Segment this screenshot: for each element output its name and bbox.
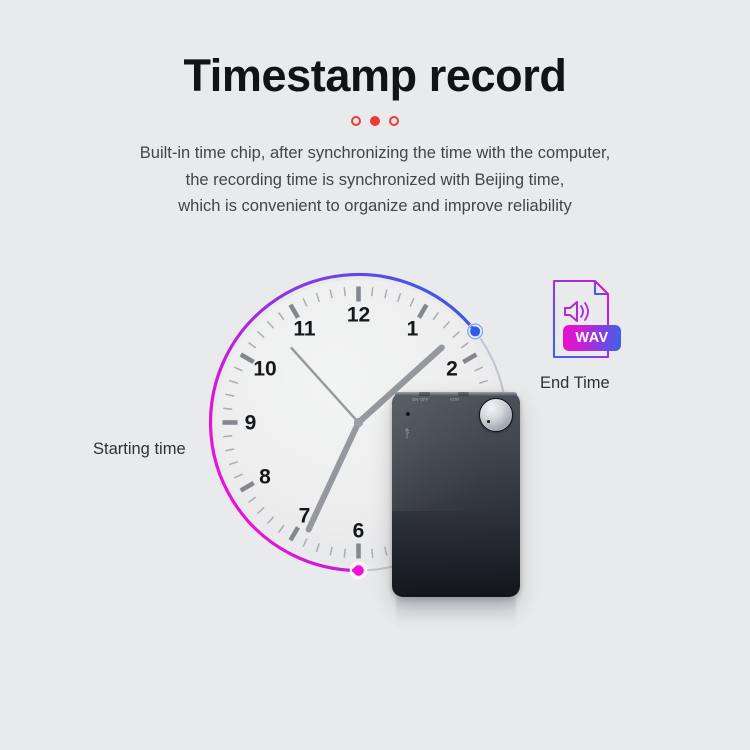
rotary-dial[interactable]: [479, 398, 513, 432]
subtitle-line-1: Built-in time chip, after synchronizing …: [0, 140, 750, 167]
subtitle-line-2: the recording time is synchronized with …: [0, 167, 750, 194]
minute-tick: [372, 549, 373, 558]
page-title: Timestamp record: [0, 52, 750, 101]
promo-banner: Timestamp record Built-in time chip, aft…: [0, 0, 750, 750]
end-time-label: End Time: [540, 374, 610, 393]
decorative-dot-1: [351, 116, 361, 126]
clock-hour-7: 7: [299, 506, 311, 527]
starting-time-label: Starting time: [93, 440, 186, 459]
decorative-dot-row: [0, 116, 750, 126]
usb-port-icon: [404, 428, 410, 439]
device-body: [392, 392, 520, 597]
clock-hour-10: 10: [253, 358, 276, 379]
power-switch[interactable]: [419, 392, 430, 396]
vor-switch[interactable]: [458, 392, 469, 396]
clock-hour-6: 6: [353, 520, 365, 541]
decorative-dot-2: [370, 116, 380, 126]
wav-badge: WAV: [563, 325, 621, 351]
end-marker: [468, 324, 483, 339]
wav-file-icon: WAV: [551, 278, 621, 360]
clock-hour-1: 1: [407, 319, 419, 340]
minute-tick: [344, 287, 345, 296]
dial-indicator-mark: [487, 420, 490, 423]
decorative-dot-3: [389, 116, 399, 126]
minute-tick: [223, 436, 232, 437]
minute-tick: [223, 408, 232, 409]
clock-hour-9: 9: [245, 412, 257, 433]
minute-tick: [372, 287, 373, 296]
clock-center-pin: [354, 418, 363, 427]
subtitle-line-3: which is convenient to organize and impr…: [0, 193, 750, 220]
subtitle: Built-in time chip, after synchronizing …: [0, 140, 750, 220]
device-reflection: [396, 598, 516, 632]
clock-hour-8: 8: [259, 466, 271, 487]
microphone-hole-icon: [406, 412, 410, 416]
clock-hour-2: 2: [446, 358, 458, 379]
clock-hour-11: 11: [293, 319, 315, 340]
power-switch-label: ON-OFF: [412, 397, 429, 402]
voice-recorder-device: ON-OFF VOR: [392, 392, 520, 597]
vor-switch-label: VOR: [450, 397, 459, 402]
device-top-edge: [395, 392, 517, 396]
minute-tick: [344, 549, 345, 558]
clock-hour-12: 12: [347, 304, 370, 325]
speaker-icon: [565, 302, 588, 321]
